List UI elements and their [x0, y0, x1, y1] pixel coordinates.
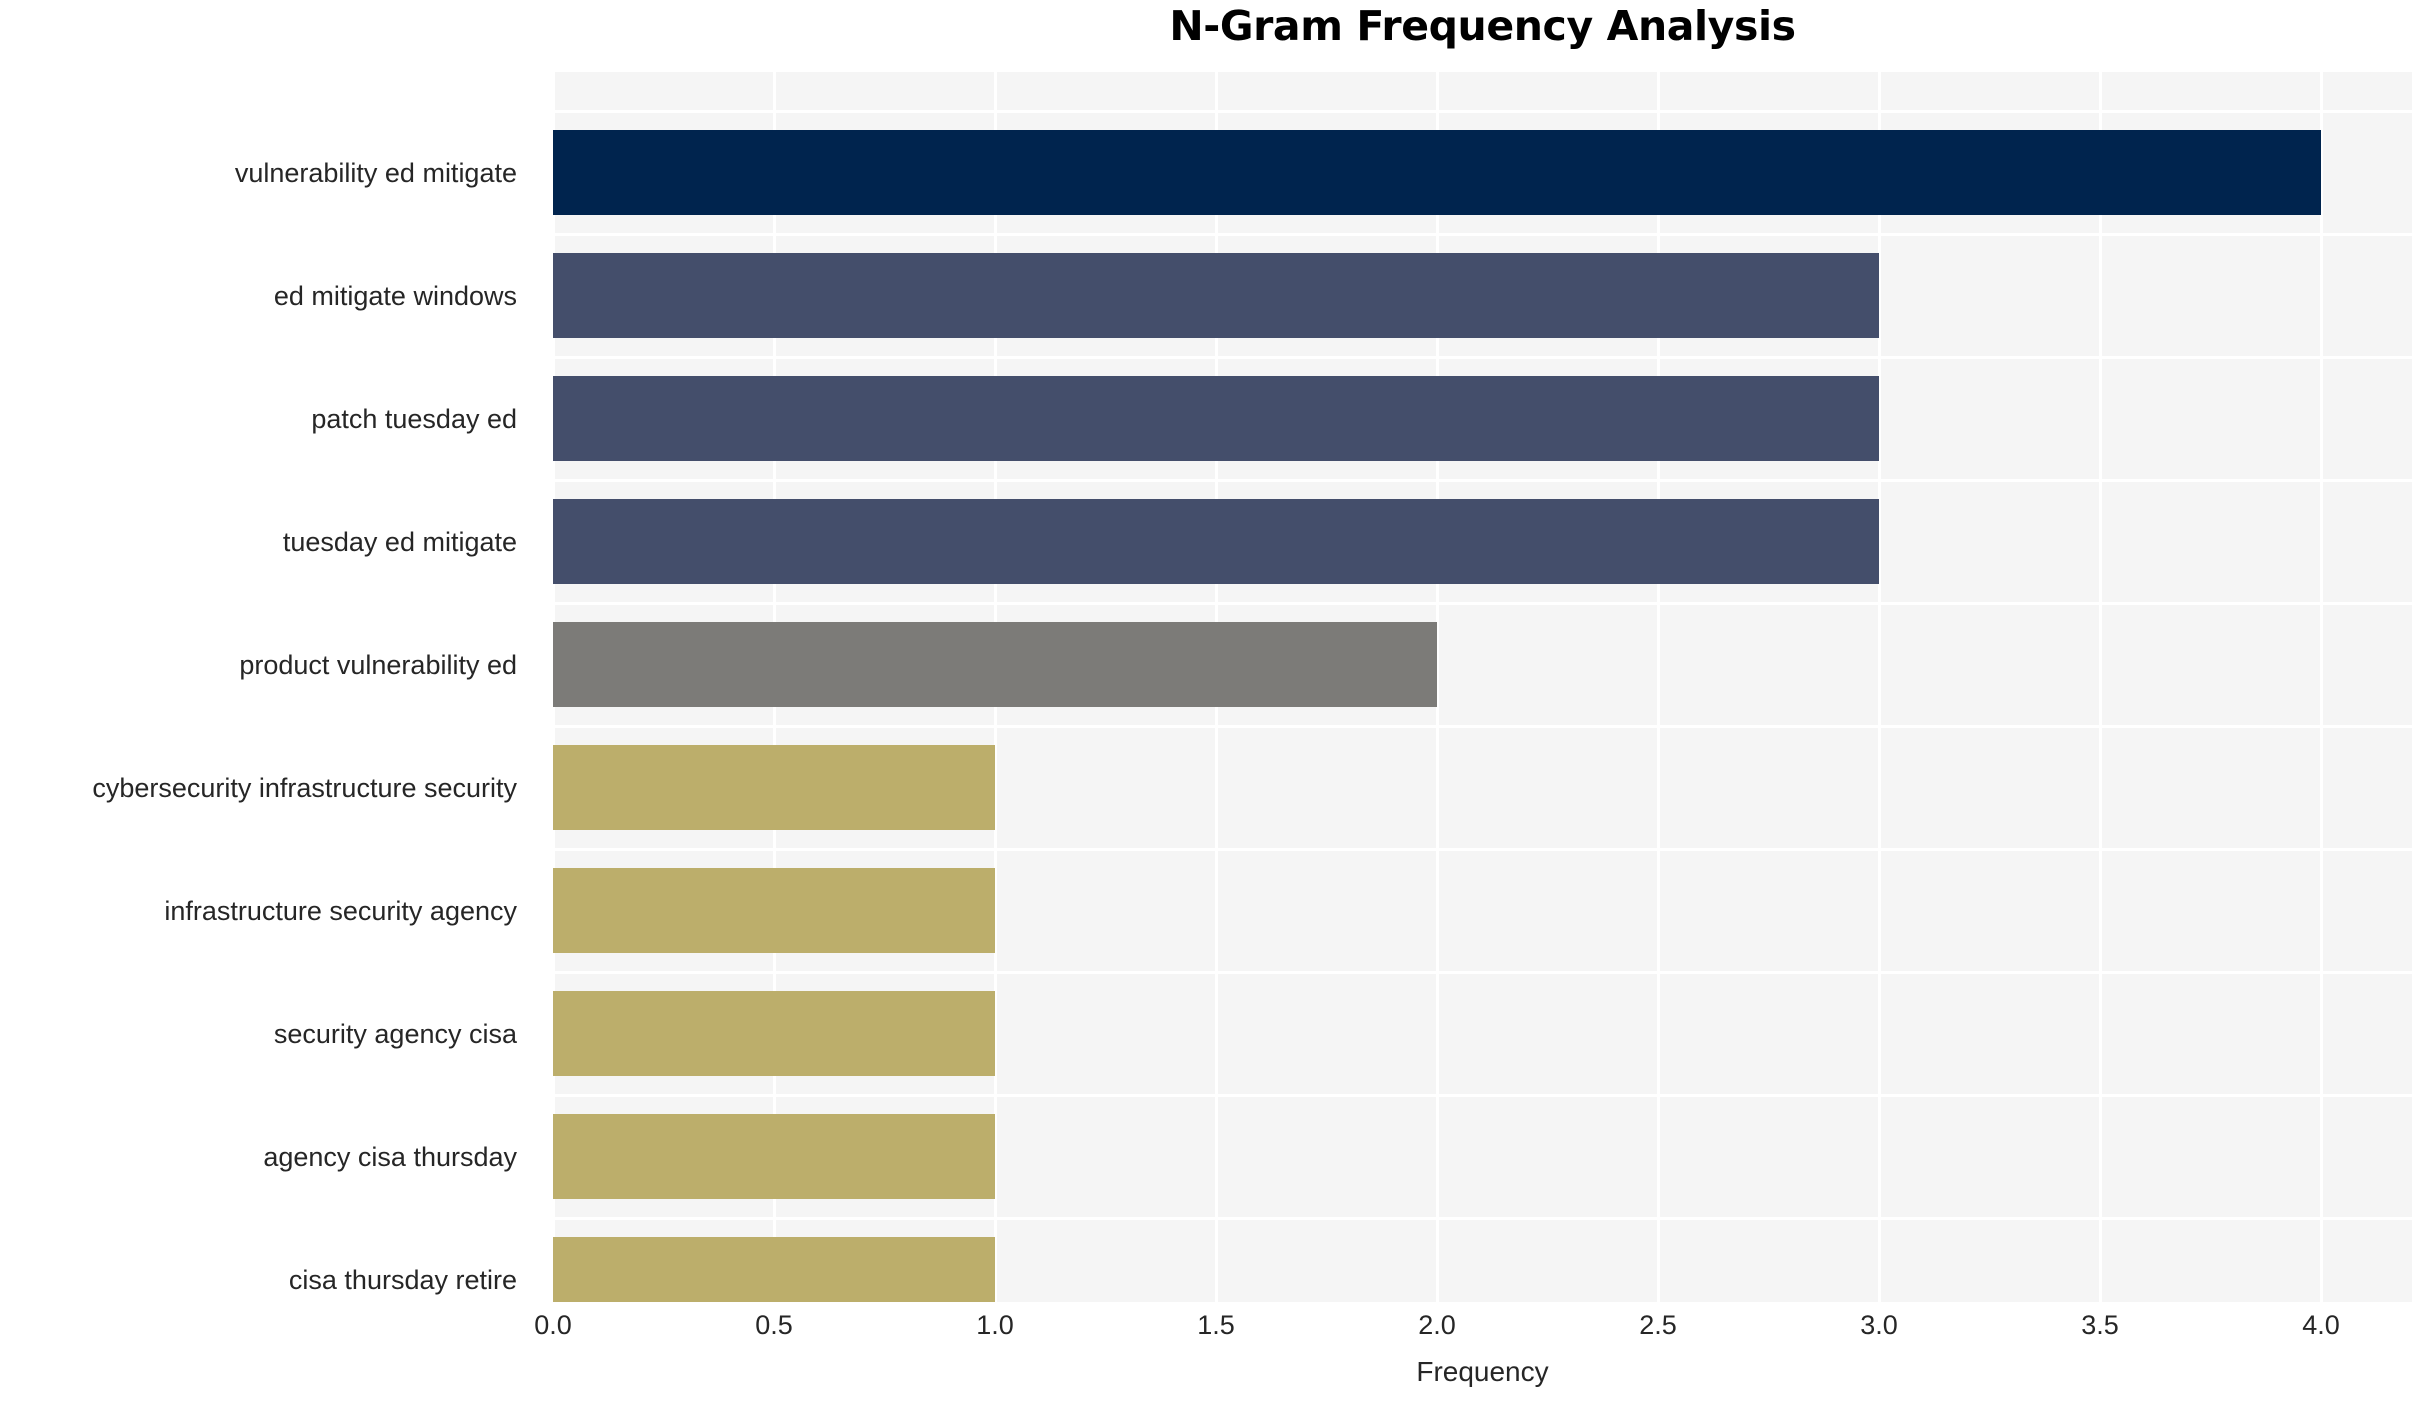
gridline-horizontal: [553, 602, 2412, 605]
x-axis-tick-label: 0.5: [755, 1308, 793, 1342]
y-axis-tick-label: infrastructure security agency: [0, 895, 517, 927]
bar[interactable]: [553, 253, 1879, 338]
bar[interactable]: [553, 745, 995, 830]
gridline-horizontal: [553, 725, 2412, 728]
plot-area: [553, 72, 2412, 1302]
y-axis-tick-label: vulnerability ed mitigate: [0, 157, 517, 189]
y-axis-tick-label: cisa thursday retire: [0, 1264, 517, 1296]
gridline-horizontal: [553, 479, 2412, 482]
gridline-horizontal: [553, 233, 2412, 236]
bar[interactable]: [553, 1114, 995, 1199]
gridline-vertical: [2099, 72, 2102, 1302]
y-axis-tick-label: cybersecurity infrastructure security: [0, 772, 517, 804]
y-axis-tick-label: security agency cisa: [0, 1018, 517, 1050]
bar[interactable]: [553, 130, 2321, 215]
y-axis-tick-label: patch tuesday ed: [0, 403, 517, 435]
gridline-horizontal: [553, 110, 2412, 113]
bar[interactable]: [553, 499, 1879, 584]
y-axis-tick-label: tuesday ed mitigate: [0, 526, 517, 558]
x-axis-tick-label: 3.5: [2081, 1308, 2119, 1342]
x-axis-tick-label: 2.0: [1418, 1308, 1456, 1342]
y-axis-tick-label: ed mitigate windows: [0, 280, 517, 312]
x-axis-title: Frequency: [553, 1355, 2412, 1389]
gridline-vertical: [2320, 72, 2323, 1302]
y-axis-tick-label: agency cisa thursday: [0, 1141, 517, 1173]
bar[interactable]: [553, 868, 995, 953]
gridline-horizontal: [553, 1217, 2412, 1220]
y-axis-tick-label: product vulnerability ed: [0, 649, 517, 681]
gridline-horizontal: [553, 848, 2412, 851]
bar[interactable]: [553, 622, 1437, 707]
x-axis-tick-label: 4.0: [2302, 1308, 2340, 1342]
x-axis-tick-label: 0.0: [534, 1308, 572, 1342]
gridline-horizontal: [553, 1094, 2412, 1097]
bar[interactable]: [553, 1237, 995, 1302]
x-axis-tick-labels: 0.00.51.01.52.02.53.03.54.0: [553, 1308, 2412, 1352]
x-axis-tick-label: 3.0: [1860, 1308, 1898, 1342]
gridline-horizontal: [553, 971, 2412, 974]
chart-title: N-Gram Frequency Analysis: [553, 2, 2412, 50]
chart-figure: N-Gram Frequency Analysis vulnerability …: [0, 0, 2433, 1402]
bar[interactable]: [553, 376, 1879, 461]
x-axis-tick-label: 1.5: [1197, 1308, 1235, 1342]
bar[interactable]: [553, 991, 995, 1076]
x-axis-tick-label: 1.0: [976, 1308, 1014, 1342]
y-axis-tick-labels: vulnerability ed mitigateed mitigate win…: [0, 72, 535, 1302]
x-axis-tick-label: 2.5: [1639, 1308, 1677, 1342]
gridline-horizontal: [553, 356, 2412, 359]
